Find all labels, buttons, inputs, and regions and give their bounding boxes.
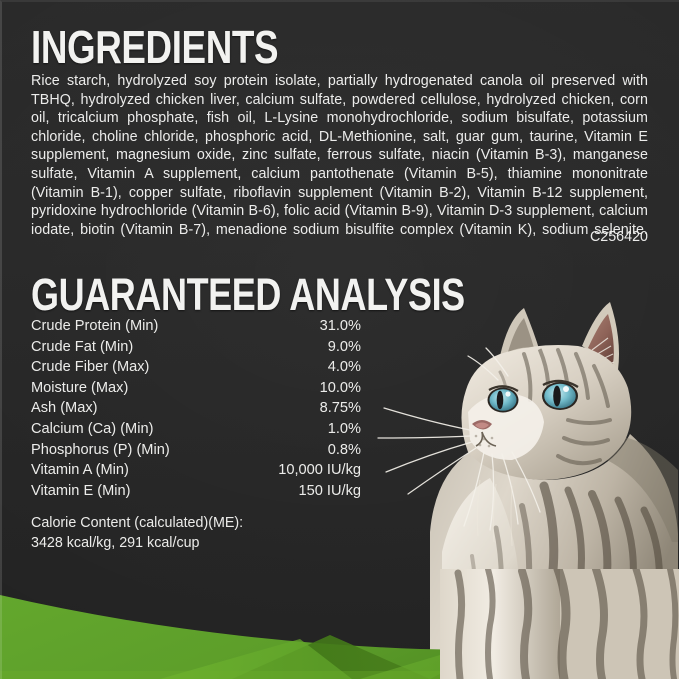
nutrient-value: 9.0%: [328, 337, 361, 358]
nutrient-label: Crude Fiber (Max): [31, 357, 149, 378]
calorie-content-value: 3428 kcal/kg, 291 kcal/cup: [31, 534, 243, 554]
nutrient-value: 4.0%: [328, 357, 361, 378]
calorie-content-label: Calorie Content (calculated)(ME):: [31, 514, 243, 534]
nutrient-label: Phosphorus (P) (Min): [31, 440, 170, 461]
pet-food-label-panel: INGREDIENTS Rice starch, hydrolyzed soy …: [0, 0, 679, 679]
nutrient-label: Calcium (Ca) (Min): [31, 419, 153, 440]
table-row: Calcium (Ca) (Min) 1.0%: [31, 419, 361, 440]
nutrient-value: 0.8%: [328, 440, 361, 461]
table-row: Vitamin A (Min) 10,000 IU/kg: [31, 460, 361, 481]
nutrient-value: 8.75%: [320, 398, 361, 419]
nutrient-value: 10.0%: [320, 378, 361, 399]
nutrient-value: 1.0%: [328, 419, 361, 440]
table-row: Crude Fat (Min) 9.0%: [31, 337, 361, 358]
nutrient-label: Crude Protein (Min): [31, 316, 158, 337]
nutrient-label: Crude Fat (Min): [31, 337, 133, 358]
guaranteed-analysis-table: Crude Protein (Min) 31.0% Crude Fat (Min…: [31, 316, 361, 501]
nutrient-value: 150 IU/kg: [299, 481, 361, 502]
table-row: Phosphorus (P) (Min) 0.8%: [31, 440, 361, 461]
nutrient-label: Ash (Max): [31, 398, 98, 419]
product-code: C256420: [31, 228, 648, 247]
table-row: Crude Protein (Min) 31.0%: [31, 316, 361, 337]
nutrient-label: Vitamin A (Min): [31, 460, 129, 481]
table-row: Moisture (Max) 10.0%: [31, 378, 361, 399]
nutrient-label: Moisture (Max): [31, 378, 128, 399]
table-row: Crude Fiber (Max) 4.0%: [31, 357, 361, 378]
table-row: Vitamin E (Min) 150 IU/kg: [31, 481, 361, 502]
calorie-content-block: Calorie Content (calculated)(ME): 3428 k…: [31, 514, 243, 553]
nutrient-label: Vitamin E (Min): [31, 481, 130, 502]
guaranteed-analysis-heading: GUARANTEED ANALYSIS: [31, 272, 465, 317]
cat-legs-image: [440, 569, 679, 679]
nutrient-value: 31.0%: [320, 316, 361, 337]
nutrient-value: 10,000 IU/kg: [278, 460, 361, 481]
ingredients-heading: INGREDIENTS: [31, 24, 278, 70]
table-row: Ash (Max) 8.75%: [31, 398, 361, 419]
